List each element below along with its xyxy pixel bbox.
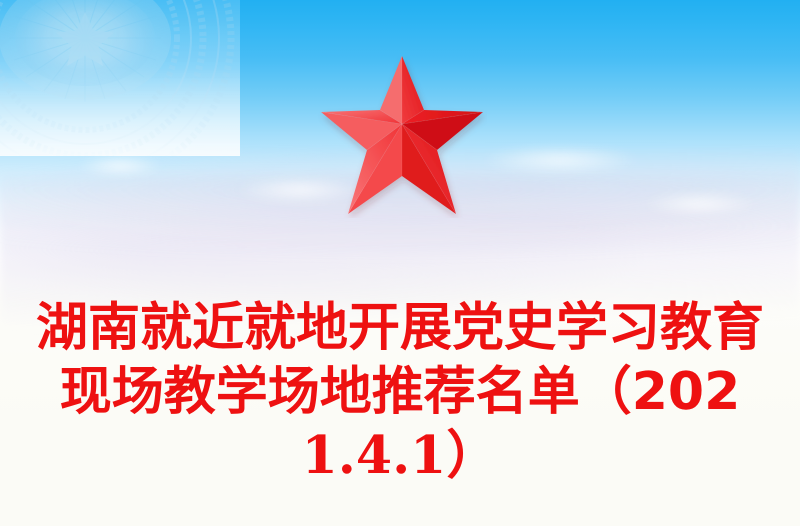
slide-title-line-2: 现场教学场地推荐名单（202 (60, 362, 741, 422)
slide-title-line-3: 1.4.1） (302, 425, 499, 486)
slide-title: 湖南就近就地开展党史学习教育 现场教学场地推荐名单（202 1.4.1） (0, 296, 800, 487)
slide-title-line-1: 湖南就近就地开展党史学习教育 (36, 298, 764, 358)
cover-slide: 湖南就近就地开展党史学习教育 现场教学场地推荐名单（202 1.4.1） (0, 0, 800, 526)
hero-star-3d (317, 54, 487, 218)
medal-badge-watermark (0, 0, 240, 156)
